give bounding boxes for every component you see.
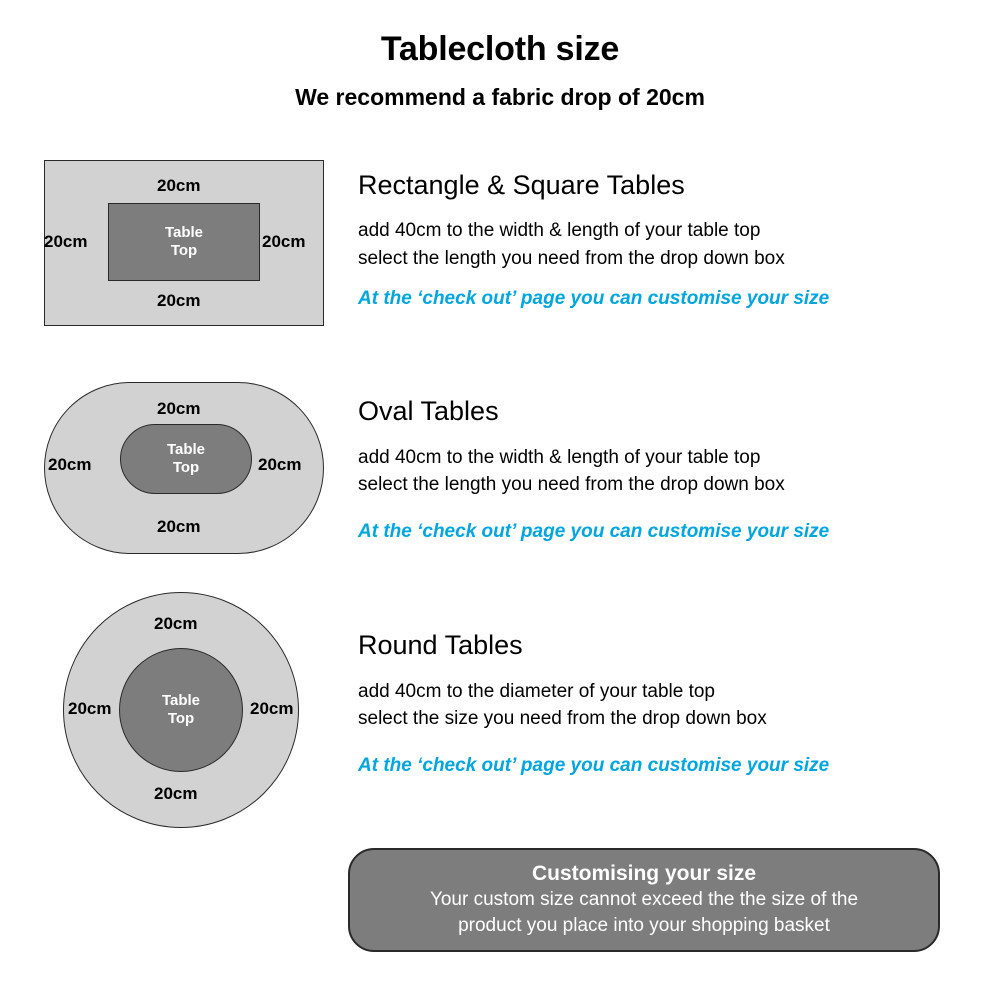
round-section-line2: select the size you need from the drop d… [358,708,767,730]
oval-table-top: Table Top [120,424,252,494]
oval-section-line1: add 40cm to the width & length of your t… [358,447,760,469]
rectangle-table-top: Table Top [108,203,260,281]
table-top-label-line2: Top [171,242,197,260]
rectangle-diagram: Table Top 20cm 20cm 20cm 20cm [44,160,324,326]
round-section-line1: add 40cm to the diameter of your table t… [358,681,715,703]
oval-drop-left: 20cm [48,455,91,475]
table-top-label-line2: Top [168,710,194,728]
footer-line2: product you place into your shopping bas… [350,913,938,939]
table-top-label-line1: Table [165,224,203,242]
round-drop-bottom: 20cm [154,784,197,804]
oval-section-line2: select the length you need from the drop… [358,474,785,496]
rectangle-drop-top: 20cm [157,176,200,196]
rectangle-drop-left: 20cm [44,232,87,252]
page-subtitle: We recommend a fabric drop of 20cm [0,84,1000,111]
rectangle-section-note: At the ‘check out’ page you can customis… [358,288,829,310]
oval-diagram: Table Top 20cm 20cm 20cm 20cm [44,382,324,554]
round-drop-left: 20cm [68,699,111,719]
rectangle-section-line2: select the length you need from the drop… [358,248,785,270]
round-drop-right: 20cm [250,699,293,719]
round-section-title: Round Tables [358,630,523,661]
customising-your-size-box: Customising your size Your custom size c… [348,848,940,952]
table-top-label-line1: Table [162,692,200,710]
oval-drop-bottom: 20cm [157,517,200,537]
oval-section-note: At the ‘check out’ page you can customis… [358,521,829,543]
page-title: Tablecloth size [0,30,1000,69]
oval-drop-right: 20cm [258,455,301,475]
round-diagram: Table Top 20cm 20cm 20cm 20cm [63,592,299,828]
round-section-note: At the ‘check out’ page you can customis… [358,755,829,777]
rectangle-section-title: Rectangle & Square Tables [358,170,685,201]
rectangle-drop-bottom: 20cm [157,291,200,311]
rectangle-section-line1: add 40cm to the width & length of your t… [358,220,760,242]
rectangle-drop-right: 20cm [262,232,305,252]
oval-section-title: Oval Tables [358,396,499,427]
round-table-top: Table Top [119,648,243,772]
oval-drop-top: 20cm [157,399,200,419]
round-drop-top: 20cm [154,614,197,634]
table-top-label-line2: Top [173,459,199,477]
footer-title: Customising your size [350,861,938,887]
footer-line1: Your custom size cannot exceed the the s… [350,887,938,913]
table-top-label-line1: Table [167,441,205,459]
